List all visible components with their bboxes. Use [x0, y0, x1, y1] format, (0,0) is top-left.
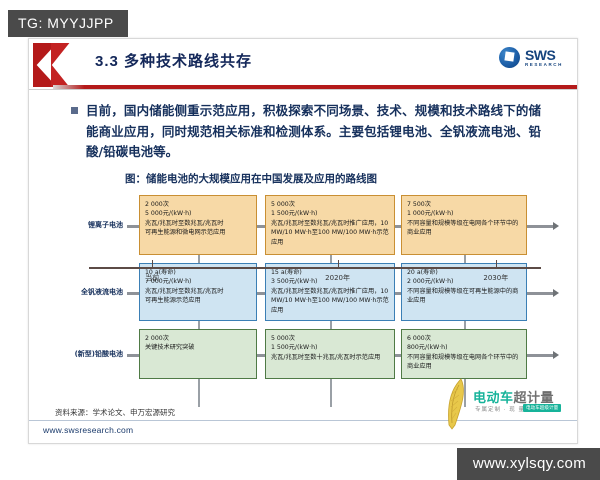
roadmap-cell-line: 兆瓦/兆瓦时至数兆瓦/兆瓦时推广应用，10 MW/10 MW·h至100 MW/… [271, 287, 390, 315]
roadmap-cell-line: 可再生能源示范应用 [145, 296, 252, 305]
connector-label-to-box [127, 225, 139, 228]
roadmap-cell: 2 000次关键技术研究突破 [139, 329, 257, 379]
row-label-1: 锂离子电池 [51, 220, 123, 230]
sws-logo-text: SWS RESEARCH [525, 48, 563, 68]
roadmap-cell: 15 a(寿命)3 500元/(kW·h)兆瓦/兆瓦时至数兆瓦/兆瓦时推广应用，… [265, 263, 395, 321]
slide-title-band: 3.3 多种技术路线共存 SWS RESEARCH [29, 39, 577, 89]
arrow-head-icon [553, 289, 559, 297]
roadmap-cell-line: 可再生能源和微电网示范应用 [145, 228, 252, 237]
axis-tick-label: 2020年 [325, 273, 350, 283]
arrow-head-icon [553, 222, 559, 230]
roadmap-cell-line: 1 500元/(kW·h) [271, 343, 390, 352]
telegram-watermark: TG: MYYJJPP [8, 10, 128, 37]
roadmap-cell: 7 500次1 000元/(kW·h)不同容量和规模等级在电网各个环节中的商业应… [401, 195, 527, 255]
connector-vertical [198, 379, 200, 407]
axis-tick [338, 260, 339, 267]
connector-between-stages [257, 292, 265, 295]
connector-between-stages [257, 354, 265, 357]
roadmap-cell: 20 a(寿命)2 000元/(kW·h)不同容量和规模等级在可再生能源中的商业… [401, 263, 527, 321]
connector-label-to-box [127, 354, 139, 357]
connector-vertical [330, 255, 332, 263]
roadmap-cell-line: 7 500次 [407, 200, 522, 209]
brand-tag-badge: 电动车超级计量 [523, 404, 561, 412]
bullet-square-icon [71, 107, 78, 114]
row-label-3: (新型)铅酸电池 [51, 349, 123, 359]
roadmap-cell-line: 2 000次 [145, 200, 252, 209]
site-watermark: www.xylsqy.com [457, 448, 600, 480]
timeline-axis: 当前2020年2030年 [89, 267, 541, 269]
connector-vertical [330, 379, 332, 407]
axis-tick-label: 当前 [145, 273, 159, 283]
connector-vertical [464, 321, 466, 329]
roadmap-cell-line: 不同容量和规模等级在电网各个环节中的商业应用 [407, 219, 522, 238]
bullet-paragraph: 目前，国内储能侧重示范应用，积极探索不同场景、技术、规模和技术路线下的储能商业应… [71, 101, 541, 163]
roadmap-cell: 10 a(寿命)7 000元/(kW·h)兆瓦/兆瓦时至数兆瓦/兆瓦时可再生能源… [139, 263, 257, 321]
bullet-paragraph-text: 目前，国内储能侧重示范应用，积极探索不同场景、技术、规模和技术路线下的储能商业应… [86, 101, 541, 163]
roadmap-cell-line: 兆瓦/兆瓦时至数十兆瓦/兆瓦时示范应用 [271, 353, 390, 362]
footer-url[interactable]: www.swsresearch.com [43, 425, 133, 435]
roadmap-cell-line: 不同容量和规模等级在可再生能源中的商业应用 [407, 287, 522, 306]
connector-vertical [198, 321, 200, 329]
roadmap-cell-line: 1 500元/(kW·h) [271, 209, 390, 218]
roadmap-cell-line: 10 a(寿命) [145, 268, 252, 277]
roadmap-cell: 5 000次1 500元/(kW·h)兆瓦/兆瓦时至数兆瓦/兆瓦时推广应用，10… [265, 195, 395, 255]
connector-trailing [527, 354, 553, 357]
connector-trailing [527, 225, 553, 228]
roadmap-cell-line: 7 000元/(kW·h) [145, 277, 252, 286]
roadmap-cell-line: 兆瓦/兆瓦时至数兆瓦/兆瓦时推广应用，10 MW/10 MW·h至100 MW/… [271, 219, 390, 247]
sws-logo-name: SWS [525, 48, 563, 62]
roadmap-cell-line: 6 000次 [407, 334, 522, 343]
roadmap-cell-line: 兆瓦/兆瓦时至数兆瓦/兆瓦时 [145, 287, 252, 296]
connector-between-stages [257, 225, 265, 228]
roadmap-cell-line: 1 000元/(kW·h) [407, 209, 522, 218]
title-divider-thin [29, 89, 577, 90]
brand-subtitle: 专属定制 · 现 量 [475, 405, 525, 413]
figure-title: 图：储能电池的大规模应用在中国发展及应用的路线图 [125, 171, 377, 186]
feather-icon [441, 377, 471, 431]
roadmap-cell-line: 兆瓦/兆瓦时至数兆瓦/兆瓦时 [145, 219, 252, 228]
arrow-head-icon [553, 351, 559, 359]
sws-globe-icon [499, 47, 520, 68]
sws-research-logo: SWS RESEARCH [499, 47, 563, 68]
roadmap-cell-line: 2 000次 [145, 334, 252, 343]
roadmap-cell-line: 5 000元/(kW·h) [145, 209, 252, 218]
roadmap-cell: 6 000次800元/(kW·h)不同容量和规模等级在电网各个环节中的商业应用 [401, 329, 527, 379]
row-label-2: 全钒液流电池 [51, 287, 123, 297]
slide-page: TG: MYYJJPP 3.3 多种技术路线共存 SWS RESEARCH 目前… [0, 0, 600, 480]
axis-tick [152, 260, 153, 267]
connector-vertical [198, 255, 200, 263]
roadmap-cell: 5 000次1 500元/(kW·h)兆瓦/兆瓦时至数十兆瓦/兆瓦时示范应用 [265, 329, 395, 379]
brand-block: 电动车超计量 专属定制 · 现 量 电动车超级计量 [439, 375, 571, 431]
axis-tick-label: 2030年 [483, 273, 508, 283]
roadmap-cell-line: 5 000次 [271, 200, 390, 209]
presentation-slide: 3.3 多种技术路线共存 SWS RESEARCH 目前，国内储能侧重示范应用，… [28, 38, 578, 444]
axis-tick [496, 260, 497, 267]
source-note: 资料来源：学术论文、申万宏源研究 [55, 407, 175, 418]
roadmap-chart: 锂离子电池2 000次5 000元/(kW·h)兆瓦/兆瓦时至数兆瓦/兆瓦时可再… [43, 189, 563, 397]
sws-logo-subtitle: RESEARCH [525, 63, 563, 68]
chevron-decoration-inner [51, 43, 91, 87]
connector-label-to-box [127, 292, 139, 295]
roadmap-cell-line: 800元/(kW·h) [407, 343, 522, 352]
roadmap-cell-line: 关键技术研究突破 [145, 343, 252, 352]
brand-name-green: 电动车 [473, 391, 514, 406]
roadmap-cell-line: 5 000次 [271, 334, 390, 343]
connector-vertical [330, 321, 332, 329]
roadmap-cell: 2 000次5 000元/(kW·h)兆瓦/兆瓦时至数兆瓦/兆瓦时可再生能源和微… [139, 195, 257, 255]
roadmap-cell-line: 不同容量和规模等级在电网各个环节中的商业应用 [407, 353, 522, 372]
connector-vertical [464, 255, 466, 263]
page-title: 3.3 多种技术路线共存 [95, 50, 252, 71]
connector-trailing [527, 292, 553, 295]
